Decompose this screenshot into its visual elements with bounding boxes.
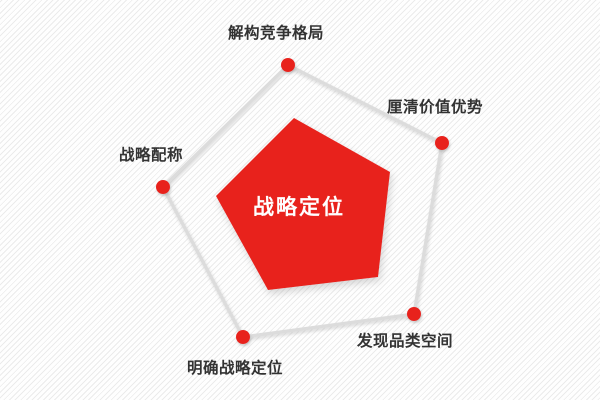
node-label-upper-right: 厘清价值优势 xyxy=(387,100,483,116)
node-label-left: 战略配称 xyxy=(119,148,183,164)
node-label-lower-right: 发现品类空间 xyxy=(357,334,453,350)
vertex-dot-lower-right[interactable] xyxy=(407,307,421,321)
diagram-canvas: 解构竞争格局 厘清价值优势 发现品类空间 明确战略定位 战略配称 战略定位 xyxy=(0,0,600,400)
vertex-dot-top[interactable] xyxy=(281,58,295,72)
vertex-dot-bottom[interactable] xyxy=(236,330,250,344)
node-label-bottom: 明确战略定位 xyxy=(187,361,283,377)
vertex-dot-upper-right[interactable] xyxy=(435,136,449,150)
node-label-top: 解构竞争格局 xyxy=(228,26,324,42)
center-title: 战略定位 xyxy=(253,197,345,218)
vertex-dot-left[interactable] xyxy=(156,180,170,194)
